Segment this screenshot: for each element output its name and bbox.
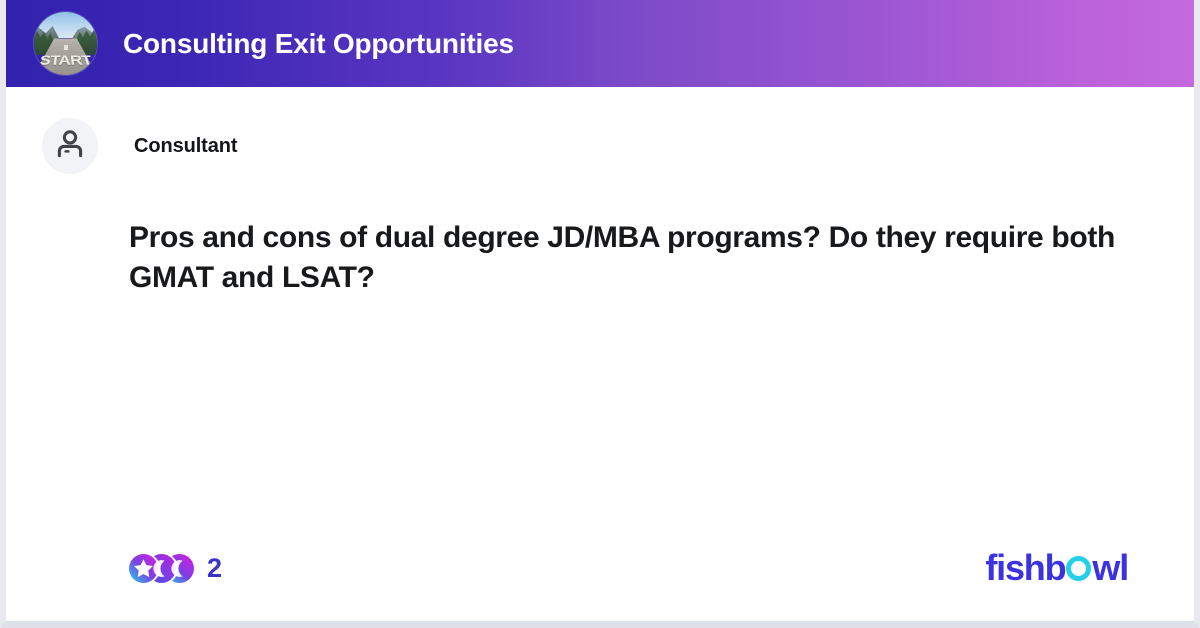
post-body: Consultant Pros and cons of dual degree … (6, 87, 1194, 621)
fishbowl-logo-ring-icon (1066, 556, 1091, 581)
fishbowl-post-card: START Consulting Exit Opportunities Cons… (0, 0, 1200, 628)
author-name: Consultant (134, 135, 237, 158)
avatar-road-dash (64, 45, 68, 50)
fishbowl-logo: fishb wl (985, 547, 1128, 589)
author-row: Consultant (6, 87, 1194, 174)
person-icon (53, 127, 87, 166)
bowl-title: Consulting Exit Opportunities (123, 28, 514, 60)
post-text: Pros and cons of dual degree JD/MBA prog… (129, 218, 1134, 297)
bowl-header: START Consulting Exit Opportunities (0, 0, 1200, 87)
reaction-badge-stack[interactable] (129, 554, 194, 583)
bowl-avatar-icon[interactable]: START (34, 12, 97, 75)
reactions[interactable]: 2 (129, 553, 222, 584)
fishbowl-logo-text-after: wl (1092, 547, 1128, 589)
avatar (42, 118, 98, 174)
fishbowl-logo-text-before: fishb (985, 547, 1065, 589)
post-footer: 2 fishb wl (6, 547, 1194, 589)
avatar-start-text: START (34, 54, 97, 69)
reaction-count: 2 (207, 553, 222, 584)
reaction-icon-3[interactable] (165, 554, 194, 583)
